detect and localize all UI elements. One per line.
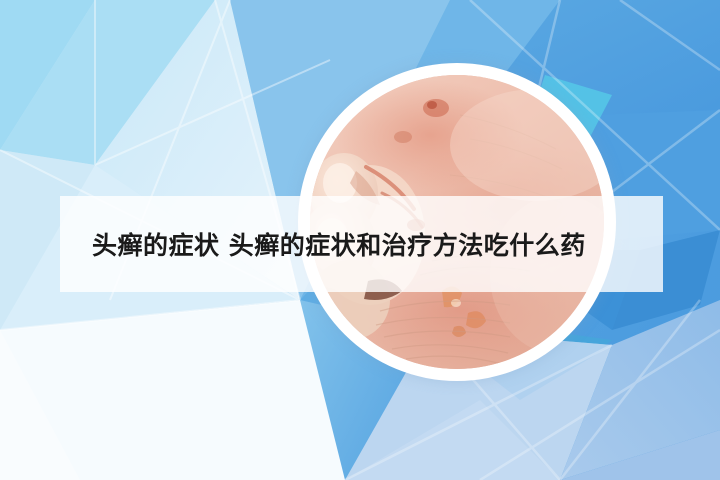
- page-title: 头癣的症状 头癣的症状和治疗方法吃什么药: [92, 196, 652, 292]
- cover-image-canvas: 头癣的症状 头癣的症状和治疗方法吃什么药: [0, 0, 720, 480]
